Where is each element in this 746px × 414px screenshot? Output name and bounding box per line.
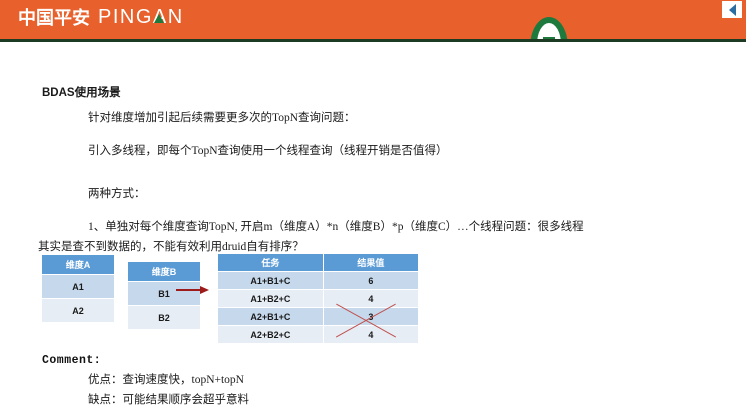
table-row: A1+B2+C 4 — [218, 290, 418, 308]
brand-logo-en-text: PINGAN — [98, 6, 184, 28]
arrow-shaft — [176, 289, 202, 291]
table-header-row: 维度B — [128, 262, 200, 282]
table-row: A2+B2+C 4 — [218, 326, 418, 344]
collapse-arrow-glyph — [729, 4, 736, 16]
paragraph-4-line-1: 1、单独对每个维度查询TopN, 开启m（维度A）*n（维度B）*p（维度C）…… — [88, 220, 584, 234]
slide-content: BDAS使用场景 针对维度增加引起后续需要更多次的TopN查询问题： 引入多线程… — [0, 42, 746, 414]
cell-value-3: 3 — [323, 308, 418, 326]
brand-logo-en: PINGAN — [98, 6, 184, 29]
table-dimension-b: 维度B B1 B2 — [128, 262, 200, 330]
table-header-row: 任务 结果值 — [218, 254, 418, 272]
cell-task-1: A1+B1+C — [218, 272, 323, 290]
comment-cons: 缺点：可能结果顺序会超乎意料 — [88, 393, 249, 407]
column-header-dim-b: 维度B — [128, 262, 200, 282]
cell-value-4: 4 — [323, 326, 418, 344]
app-header: 中国平安 PINGAN — [0, 0, 746, 39]
table-row: A2 — [42, 299, 114, 323]
brand-logo-cn: 中国平安 — [18, 4, 90, 30]
table-dimension-a: 维度A A1 A2 — [42, 255, 114, 323]
column-header-value: 结果值 — [323, 254, 418, 272]
comment-pros: 优点：查询速度快，topN+topN — [88, 373, 244, 387]
green-triangle-icon — [154, 14, 164, 23]
table-header-row: 维度A — [42, 255, 114, 275]
collapse-left-arrow-icon[interactable] — [722, 1, 742, 18]
page-title: BDAS使用场景 — [42, 86, 121, 100]
column-header-task: 任务 — [218, 254, 323, 272]
table-row: A2+B1+C 3 — [218, 308, 418, 326]
cell-task-2: A1+B2+C — [218, 290, 323, 308]
cell-dim-b-2: B2 — [128, 306, 200, 330]
paragraph-2: 引入多线程，即每个TopN查询使用一个线程查询（线程开销是否值得） — [88, 144, 448, 158]
brand-logo: 中国平安 PINGAN — [18, 5, 184, 29]
cell-task-3: A2+B1+C — [218, 308, 323, 326]
comment-label: Comment: — [42, 354, 101, 367]
paragraph-4-line-2: 其实是查不到数据的，不能有效利用druid自有排序？ — [38, 240, 304, 254]
cell-dim-a-1: A1 — [42, 275, 114, 299]
arrow-head — [200, 286, 209, 294]
table-result: 任务 结果值 A1+B1+C 6 A1+B2+C 4 A2+B1+C 3 A2+… — [218, 254, 418, 344]
table-row: A1 — [42, 275, 114, 299]
cell-dim-a-2: A2 — [42, 299, 114, 323]
right-arrow-icon — [176, 286, 210, 294]
paragraph-1: 针对维度增加引起后续需要更多次的TopN查询问题： — [88, 111, 356, 125]
cell-value-1: 6 — [323, 272, 418, 290]
paragraph-3: 两种方式： — [88, 187, 146, 201]
table-row: B2 — [128, 306, 200, 330]
table-row: A1+B1+C 6 — [218, 272, 418, 290]
column-header-dim-a: 维度A — [42, 255, 114, 275]
cell-task-4: A2+B2+C — [218, 326, 323, 344]
cell-value-2: 4 — [323, 290, 418, 308]
